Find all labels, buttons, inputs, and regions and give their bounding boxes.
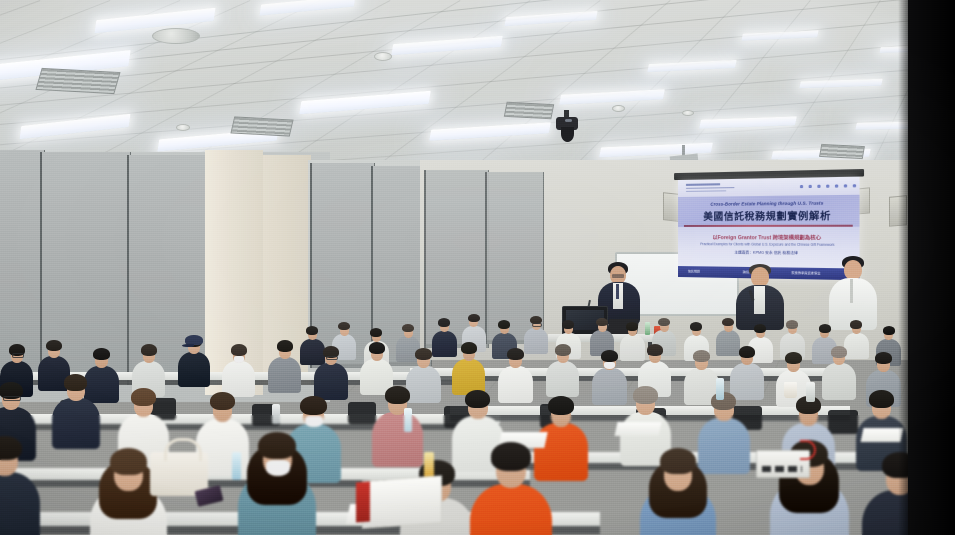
audience-member: [620, 386, 671, 455]
audience-member: [640, 448, 716, 535]
audience-member: [0, 436, 40, 531]
audience-member: [780, 320, 805, 354]
handbag-handle-icon: [164, 438, 202, 461]
water-bottle-icon: [806, 382, 815, 402]
handout-paper: [615, 422, 662, 436]
slide-title-chinese: 美國信託稅務規劃實例解析: [678, 208, 860, 223]
smoke-detector-icon: [176, 124, 190, 131]
foreground-pillar: [908, 0, 955, 535]
gift-box: [362, 475, 442, 529]
audience-member: [314, 346, 348, 392]
water-bottle-icon: [424, 452, 434, 478]
audience-member: [132, 344, 165, 389]
water-bottle-icon: [232, 452, 241, 480]
audience-member: [372, 386, 423, 455]
hvac-vent-icon: [35, 68, 120, 94]
audience-member: [498, 348, 533, 395]
slide-footer-left: 信託規劃: [688, 269, 700, 273]
pillar-shadow: [898, 0, 908, 535]
audience-member: [222, 344, 255, 389]
audience-member: [238, 432, 316, 535]
ceiling-speaker-icon: [152, 28, 200, 44]
slide-subtitle-chinese: 以Foreign Grantor Trust 跨境架構規劃為核心: [678, 234, 860, 242]
audience-member: [590, 318, 614, 351]
audience-member: [470, 442, 552, 535]
smoke-detector-icon: [374, 52, 392, 61]
audience-member: [730, 346, 764, 392]
water-bottle-icon: [716, 378, 724, 400]
speaker-right: [828, 256, 878, 330]
speaker-center: [736, 264, 784, 330]
audience-member: [822, 346, 856, 392]
smoke-detector-icon: [612, 105, 625, 112]
wall-speaker-icon: [663, 192, 679, 222]
water-bottle-icon: [404, 408, 412, 432]
hvac-vent-icon: [230, 116, 293, 136]
audience-member: [178, 336, 210, 380]
slide-title-english: Cross-Border Estate Planning through U.S…: [678, 200, 860, 207]
water-bottle-icon: [272, 404, 280, 424]
audience-member: [638, 344, 671, 389]
audience-member: [546, 344, 579, 389]
slide-footer-right: 家族傳承與資產保全: [791, 270, 820, 275]
control-unit-buttons: [762, 466, 802, 472]
water-bottle-icon: [645, 322, 650, 335]
smoke-detector-icon: [682, 110, 694, 116]
audience-member: [268, 340, 301, 385]
audience-member: [524, 316, 548, 349]
gift-box-accent: [356, 482, 370, 523]
audience-member: [452, 342, 485, 387]
hvac-vent-icon: [504, 102, 554, 120]
audience-member: [52, 374, 100, 438]
audience-member: [684, 350, 719, 397]
coffee-cup-icon: [784, 382, 797, 398]
audience-member: [360, 342, 393, 387]
seminar-room-photo: Cross-Border Estate Planning through U.S…: [0, 0, 955, 535]
audience-member: [118, 388, 169, 457]
hvac-vent-icon: [819, 144, 865, 159]
